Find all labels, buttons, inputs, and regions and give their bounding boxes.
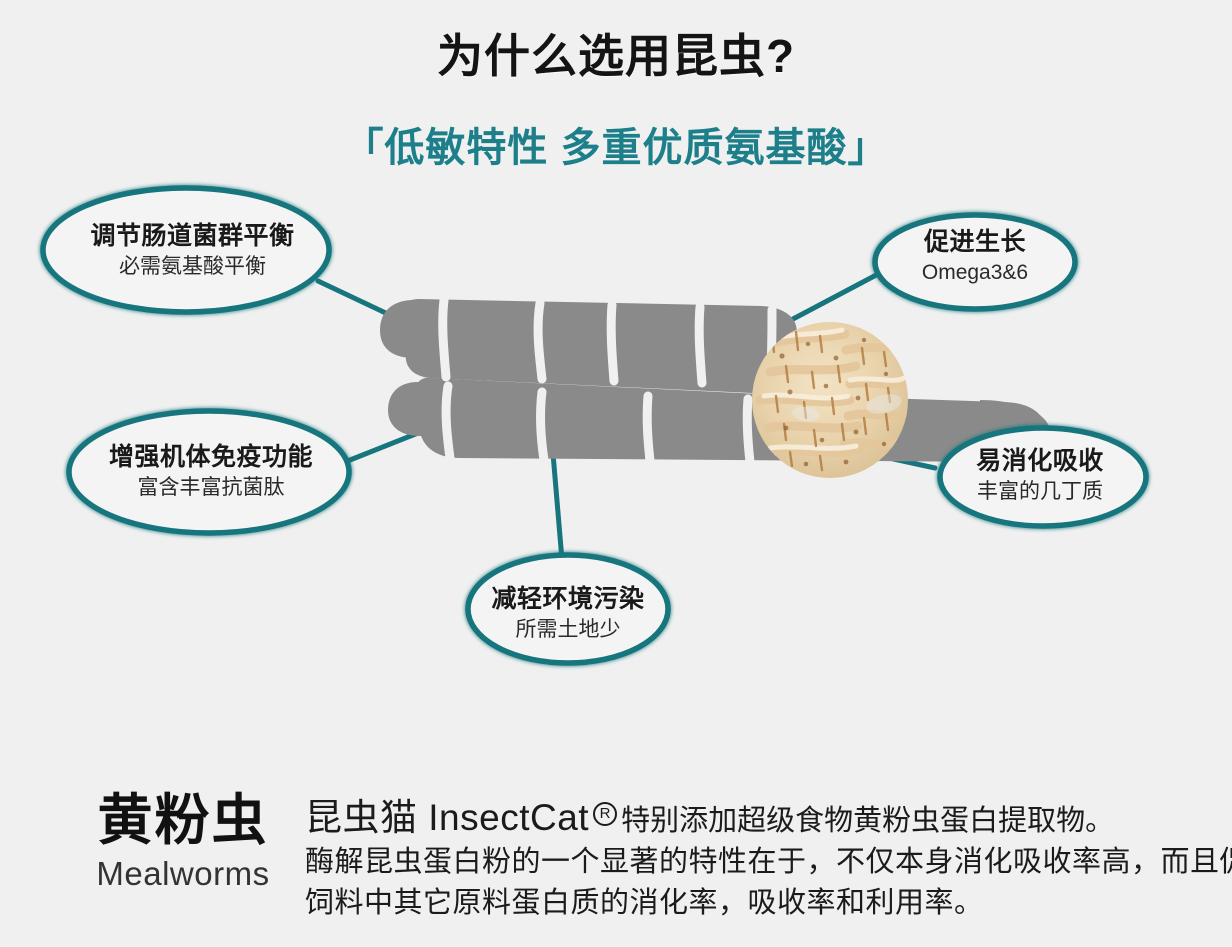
bubble-environment[interactable] [468,555,668,663]
connector-growth [793,273,880,319]
registered-trademark-icon: R [593,802,617,826]
bubble-gut-balance[interactable] [43,188,329,312]
brand-block: 黄粉虫 Mealworms [72,790,294,893]
bubble-digestion[interactable] [940,428,1146,526]
product-brand-name: 昆虫猫 InsectCat [305,794,589,842]
description-line-1-tail: 特别添加超级食物黄粉虫蛋白提取物。 [621,803,1114,841]
brand-name-en: Mealworms [72,854,294,894]
description-line-2: 酶解昆虫蛋白粉的一个显著的特性在于，不仅本身消化吸收率高，而且促进 [305,842,1215,883]
description-block: 昆虫猫 InsectCat R 特别添加超级食物黄粉虫蛋白提取物。 酶解昆虫蛋白… [305,794,1215,924]
footer-section: 黄粉虫 Mealworms 昆虫猫 InsectCat R 特别添加超级食物黄粉… [0,780,1232,947]
mealworm-silhouette [380,299,1050,463]
bubble-immunity[interactable] [69,411,349,533]
description-line-1: 昆虫猫 InsectCat R 特别添加超级食物黄粉虫蛋白提取物。 [305,794,1215,842]
description-line-3: 饲料中其它原料蛋白质的消化率，吸收率和利用率。 [305,883,1215,924]
bubble-growth[interactable] [875,215,1075,309]
brand-name-cn: 黄粉虫 [72,790,294,852]
infographic-page: 为什么选用昆虫? 「低敏特性 多重优质氨基酸」 [0,0,1232,947]
mealworms-photo-circle [752,322,908,478]
